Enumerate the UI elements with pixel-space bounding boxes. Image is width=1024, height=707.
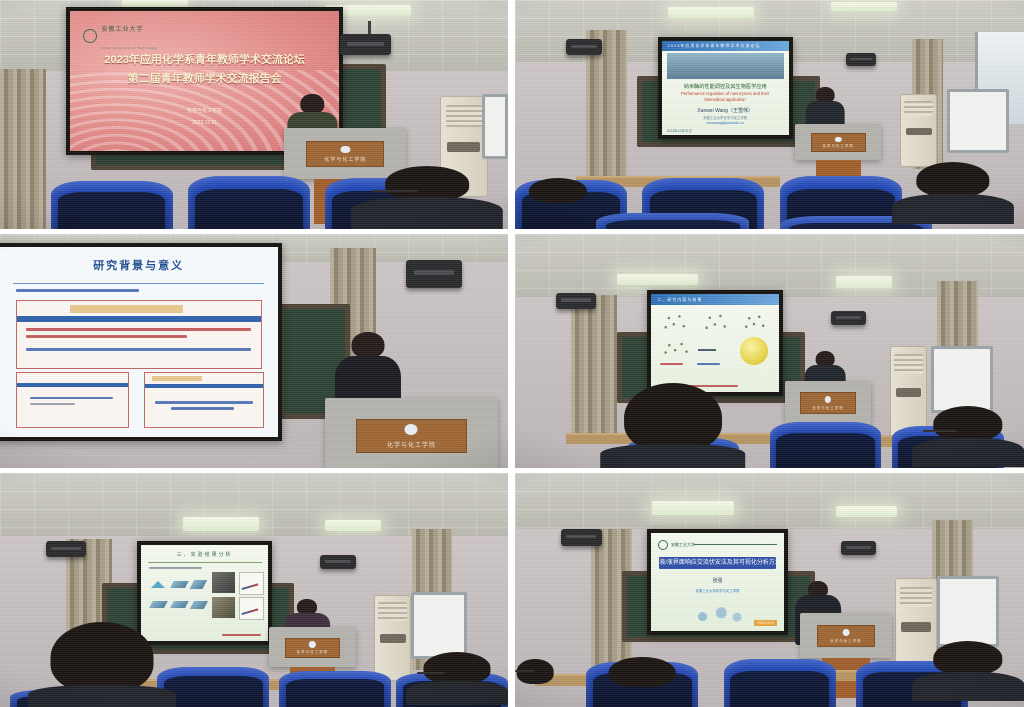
projector <box>340 34 391 55</box>
slide-body-line1 <box>26 328 250 331</box>
slide-title-band: 二、研究内容与结果 <box>651 294 778 305</box>
audience-person <box>607 389 739 468</box>
audience-person <box>351 167 503 229</box>
slide-divider <box>694 544 777 545</box>
audience-person <box>525 178 591 206</box>
podium-logo-icon <box>835 137 841 143</box>
whiteboard <box>947 89 1009 152</box>
chair <box>724 659 836 707</box>
figure-label <box>697 363 720 365</box>
ceiling-light <box>652 501 733 515</box>
audience-head <box>529 178 587 203</box>
molecule-figure <box>700 309 733 335</box>
screenshot-text-3b <box>171 407 234 410</box>
audience-chairs-6 <box>515 637 1024 707</box>
figure-slab <box>190 601 208 609</box>
projector <box>561 529 602 545</box>
slide-affiliation: 安徽工业大学化学与化工学院 <box>651 588 783 593</box>
screenshot-text <box>30 397 113 399</box>
ceiling-light <box>183 517 259 531</box>
podium-plate: 化学与化工学院 <box>356 419 467 453</box>
audience-shoulder <box>912 438 1024 467</box>
slide-footnote <box>222 634 260 636</box>
figure-slab <box>150 601 169 608</box>
slide-body-line3 <box>26 348 250 351</box>
sem-image <box>212 572 235 593</box>
slide-title-line1: 2023年应用化学系青年教师学术交流论坛 <box>70 51 339 67</box>
figure-slab <box>170 581 189 588</box>
audience-shoulder <box>28 685 176 707</box>
slide-content: 研究背景与意义 <box>0 247 278 437</box>
slide-title-line2: 第二届青年教师学术交流报告会 <box>70 70 339 86</box>
projector <box>841 541 877 555</box>
slide-title-en-2: biomedical application <box>662 97 789 104</box>
slide-content: 三、实验结果分析 <box>141 545 268 641</box>
slide-screenshot-box-3 <box>144 372 263 427</box>
audience-head <box>50 622 153 693</box>
audience-head <box>624 383 722 452</box>
audience-person <box>912 641 1024 701</box>
audience-chairs-2 <box>515 147 1024 229</box>
chair <box>188 176 310 229</box>
slide-subtitle <box>149 567 202 569</box>
slide-screenshot-box-2 <box>16 372 130 427</box>
ceiling-light <box>836 506 897 518</box>
screenshot-text <box>30 403 75 405</box>
audience-chairs-4 <box>515 402 1024 468</box>
photo-panel-1: 安徽工业大学 Anhui University of Technology 20… <box>0 0 508 229</box>
slide-presenter: 张强 <box>651 577 783 584</box>
podium-label: 化学与化工学院 <box>364 440 460 449</box>
audience-head <box>424 652 491 683</box>
slide-screenshot-box-1 <box>16 300 262 368</box>
logo-circle-icon <box>658 540 668 550</box>
slide-bullet-text <box>16 289 139 292</box>
projector <box>406 260 462 288</box>
figure-slab <box>170 601 189 608</box>
reaction-arrow-icon <box>698 349 716 351</box>
ceiling-light <box>831 2 897 11</box>
ceiling-light <box>325 520 381 532</box>
slide-date: 2023年12月01日 <box>667 128 692 133</box>
audience-chairs-5 <box>0 646 508 707</box>
photo-panel-5: 三、实验结果分析 <box>0 473 508 707</box>
glasses-icon <box>923 430 957 432</box>
chair <box>770 422 882 468</box>
screenshot-navbar <box>145 384 262 388</box>
photo-panel-2: 2023年应用化学系青年教师学术交流论坛 纳米酶的性能调控及其生物医学应用 Pe… <box>515 0 1024 229</box>
audience-shoulder <box>912 672 1024 701</box>
ceiling-light <box>836 276 892 288</box>
slide-banner-photo <box>667 53 784 79</box>
slide-body-line2 <box>26 335 187 338</box>
slide-email: xuewwang@ahut.edu.cn <box>662 121 789 125</box>
audience-head <box>933 641 1002 675</box>
slide-title: 研究背景与意义 <box>0 257 278 273</box>
figure-substrate <box>151 581 165 588</box>
projector-mount <box>368 21 371 35</box>
figure-slab <box>190 580 207 589</box>
nanoparticle-figure <box>740 337 768 365</box>
podium-3: 化学与化工学院 <box>325 398 498 468</box>
projector <box>320 555 356 569</box>
lecture-hall-scene-1: 安徽工业大学 Anhui University of Technology 20… <box>0 0 508 229</box>
chair <box>596 213 749 229</box>
university-name: 安徽工业大学 <box>671 542 695 548</box>
audience-head <box>933 406 1002 441</box>
screenshot-navbar <box>17 383 129 387</box>
screenshot-text-3 <box>155 401 254 404</box>
ceiling-light <box>668 7 755 18</box>
audience-person <box>36 628 168 707</box>
molecule-figure <box>740 311 771 333</box>
projection-screen-3: 研究背景与意义 <box>0 243 282 441</box>
projector <box>846 53 877 67</box>
molecule-figure <box>658 339 696 357</box>
projector <box>831 311 867 325</box>
screenshot-gov-header <box>152 376 201 381</box>
ceiling-light <box>122 0 188 7</box>
lecture-hall-scene-5: 三、实验结果分析 <box>0 473 508 707</box>
audience-shoulder <box>406 681 508 705</box>
audience-person <box>406 652 508 704</box>
university-name: 安徽工业大学 <box>101 27 143 33</box>
projection-screen-6: 安徽工业大学 液/液界面响应交流伏安法及其可视化分析方法 张强 安徽工业大学化学… <box>647 529 787 635</box>
projector <box>46 541 87 557</box>
audience-chairs-1 <box>0 156 508 229</box>
screenshot-navbar <box>17 316 261 322</box>
screenshot-gov-header <box>70 305 182 312</box>
photo-panel-6: 安徽工业大学 液/液界面响应交流伏安法及其可视化分析方法 张强 安徽工业大学化学… <box>515 473 1024 707</box>
chair <box>279 671 391 707</box>
slide-divider <box>148 562 262 563</box>
glasses-icon <box>515 670 535 672</box>
afm-plot <box>239 572 264 595</box>
audience-shoulder <box>351 197 503 229</box>
university-logo: 安徽工业大学 <box>658 540 695 550</box>
lecture-hall-scene-4: 二、研究内容与结果 <box>515 234 1024 468</box>
audience-person <box>892 163 1014 224</box>
audience-shoulder <box>600 444 746 468</box>
slide-title: 三、实验结果分析 <box>141 551 268 558</box>
projection-screen-2: 2023年应用化学系青年教师学术交流论坛 纳米酶的性能调控及其生物医学应用 Pe… <box>658 37 793 139</box>
audience-person <box>912 406 1024 466</box>
photo-panel-4: 二、研究内容与结果 <box>515 234 1024 468</box>
glasses-icon <box>372 190 418 192</box>
university-name-en: Anhui University of Technology <box>101 46 157 50</box>
slide-title-cn: 纳米酶的性能调控及其生物医学应用 <box>662 83 789 90</box>
slide-title-pale: 2023年应用化学系青年教师学术交流论坛 纳米酶的性能调控及其生物医学应用 Pe… <box>662 41 789 135</box>
slide-presenter: Xuewei Wang（王雪伟） <box>662 107 789 114</box>
lecture-hall-scene-6: 安徽工业大学 液/液界面响应交流伏安法及其可视化分析方法 张强 安徽工业大学化学… <box>515 473 1024 707</box>
lecture-hall-scene-3: 研究背景与意义 <box>0 234 508 468</box>
audience-head <box>916 162 989 197</box>
molecule-figure <box>659 310 692 334</box>
podium-logo-icon <box>341 146 350 154</box>
slide-content: 二、研究内容与结果 <box>651 294 778 392</box>
slide-decoration-graphic <box>680 601 754 627</box>
slide-divider <box>13 283 264 284</box>
glasses-icon <box>417 672 445 674</box>
figure-label <box>660 363 683 365</box>
projector <box>566 39 602 55</box>
logo-circle-icon <box>83 29 97 43</box>
speaker-head <box>352 332 385 358</box>
slide-affiliation: 安徽工业大学化学与化工学院 <box>662 115 789 120</box>
slide-title-cn: 液/液界面响应交流伏安法及其可视化分析方法 <box>659 557 775 569</box>
university-logo: 安徽工业大学 Anhui University of Technology <box>83 18 157 54</box>
audience-shoulder <box>892 194 1014 225</box>
podium-logo-icon <box>842 629 849 636</box>
photo-collage-grid: 安徽工业大学 Anhui University of Technology 20… <box>0 0 1024 707</box>
spectrum-plot <box>239 597 264 620</box>
photo-panel-3: 研究背景与意义 <box>0 234 508 468</box>
podium-logo-icon <box>405 424 418 435</box>
slide-header-band: 2023年应用化学系青年教师学术交流论坛 <box>662 41 789 51</box>
audience-person <box>602 656 683 688</box>
projection-screen-4: 二、研究内容与结果 <box>647 290 782 396</box>
lecture-hall-scene-2: 2023年应用化学系青年教师学术交流论坛 纳米酶的性能调控及其生物医学应用 Pe… <box>515 0 1024 229</box>
sem-image <box>212 597 235 618</box>
slide-title-pale: 安徽工业大学 液/液界面响应交流伏安法及其可视化分析方法 张强 安徽工业大学化学… <box>651 533 783 631</box>
chair <box>51 181 173 229</box>
whiteboard <box>482 94 508 160</box>
ceiling-light <box>617 274 698 286</box>
audience-head <box>609 657 676 687</box>
audience-head <box>385 166 469 200</box>
slide-date: 2023.12.01 <box>754 620 777 626</box>
projector <box>556 293 597 309</box>
audience-person <box>515 659 556 686</box>
